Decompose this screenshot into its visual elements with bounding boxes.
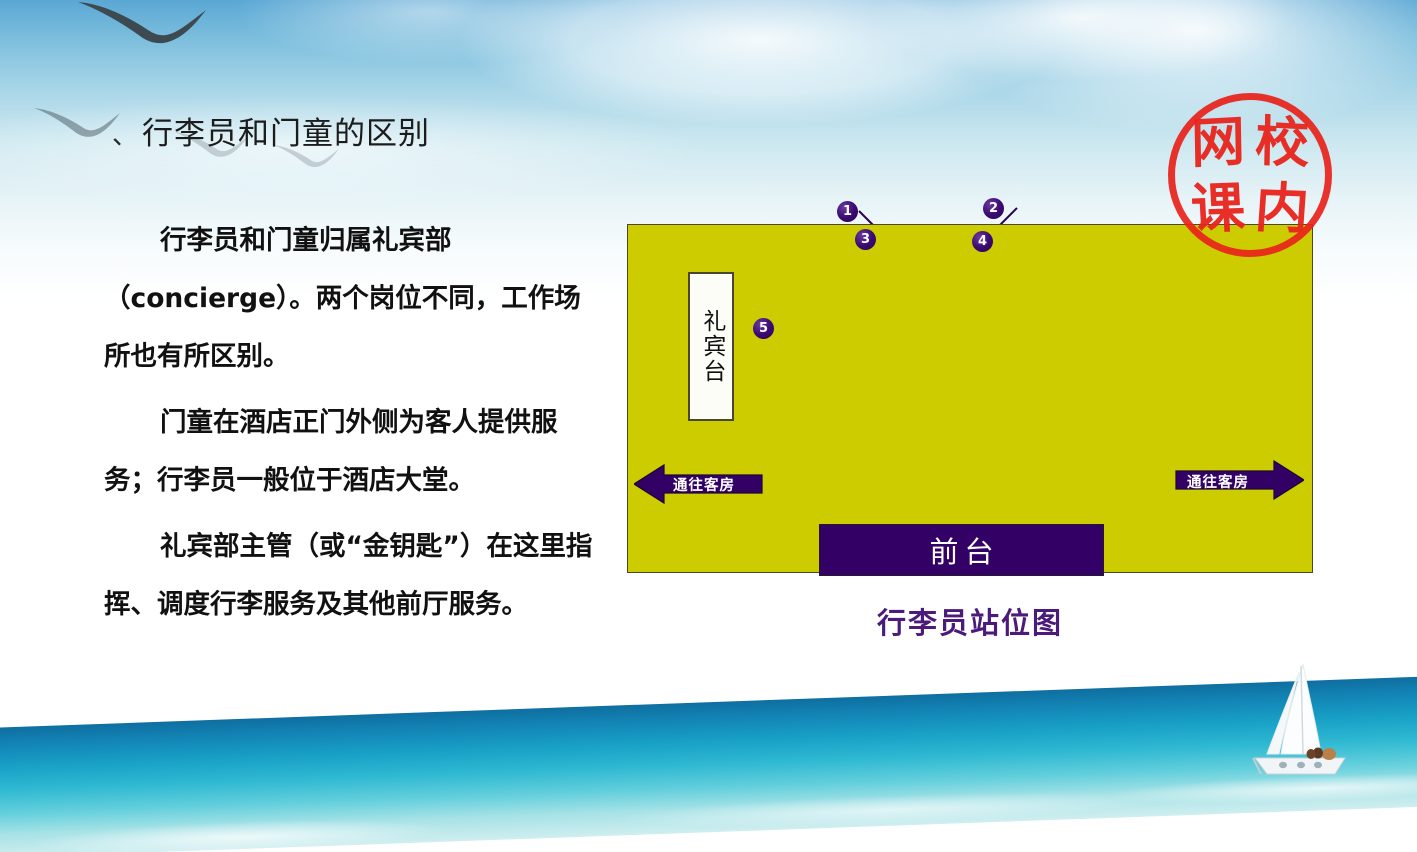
seal-characters: 网 校 课 内 (1186, 109, 1314, 241)
marker-4: 4 (972, 231, 993, 252)
watermark-seal: 网 校 课 内 (1168, 93, 1332, 257)
concierge-desk: 礼宾台 (688, 272, 734, 421)
seal-char: 课 (1184, 174, 1251, 242)
paragraph: 礼宾部主管（或“金钥匙”）在这里指挥、调度行李服务及其他前厅服务。 (104, 518, 604, 634)
arrow-left-label: 通往客房 (673, 474, 735, 495)
arrow-right-label: 通往客房 (1187, 471, 1249, 492)
front-desk: 前台 (819, 524, 1104, 576)
page-title: 行李员和门童的区别 (142, 108, 430, 153)
seal-char: 内 (1248, 174, 1317, 242)
diagram-caption: 行李员站位图 (627, 600, 1313, 642)
concierge-desk-label: 礼宾台 (698, 309, 724, 384)
seagull-icon (74, 0, 214, 44)
marker-3: 3 (855, 229, 876, 250)
body-text-column: 行李员和门童归属礼宾部（concierge）。两个岗位不同，工作场所也有所区别。… (104, 212, 604, 642)
paragraph: 行李员和门童归属礼宾部（concierge）。两个岗位不同，工作场所也有所区别。 (104, 212, 604, 386)
ocean-band (0, 677, 1417, 852)
slide-canvas: 、 行李员和门童的区别 行李员和门童归属礼宾部（concierge）。两个岗位不… (0, 0, 1417, 852)
sailboat-icon (1217, 662, 1367, 792)
seal-char: 网 (1185, 107, 1250, 176)
seagull-icon (32, 104, 124, 138)
title-leading-mark: 、 (112, 115, 138, 152)
marker-1: 1 (837, 201, 858, 222)
marker-5: 5 (753, 318, 774, 339)
paragraph: 门童在酒店正门外侧为客人提供服务；行李员一般位于酒店大堂。 (104, 394, 604, 510)
front-desk-label: 前台 (923, 529, 999, 571)
marker-2: 2 (983, 198, 1004, 219)
seal-char: 校 (1249, 107, 1314, 176)
ocean-foam (0, 761, 1417, 852)
slide-title: 、 行李员和门童的区别 (112, 108, 430, 153)
